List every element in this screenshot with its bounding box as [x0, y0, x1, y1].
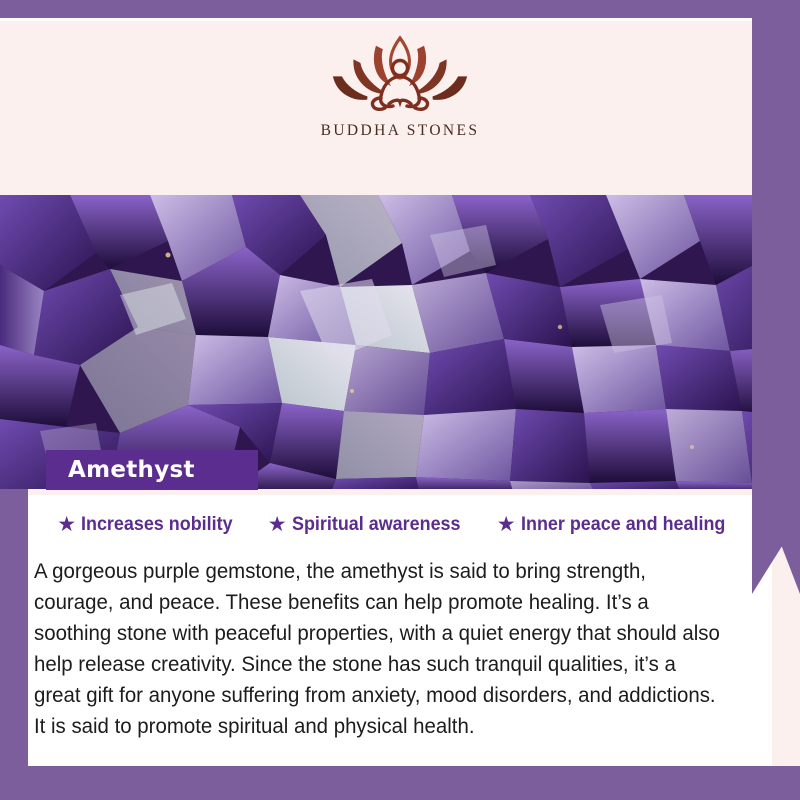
- benefit-item: ★ Increases nobility: [57, 513, 246, 536]
- star-icon: ★: [497, 514, 516, 535]
- frame-hairline: [0, 18, 752, 21]
- benefit-item: ★ Spiritual awareness: [268, 513, 475, 536]
- infographic-page: BUDDHA STONES Stone Features & Benefits …: [0, 0, 800, 800]
- stone-name-label: Amethyst: [46, 457, 195, 483]
- frame-ribbon-right: [752, 0, 800, 594]
- lotus-meditation-icon: [315, 28, 485, 120]
- brand-name: BUDDHA STONES: [321, 122, 480, 140]
- frame-ribbon-top: [0, 0, 800, 18]
- stone-name-banner: Amethyst: [46, 450, 258, 490]
- benefit-label: Spiritual awareness: [292, 513, 461, 536]
- brand-logo: BUDDHA STONES: [315, 28, 485, 140]
- benefit-label: Increases nobility: [81, 513, 233, 536]
- stone-description: A gorgeous purple gemstone, the amethyst…: [34, 556, 728, 742]
- benefit-item: ★ Inner peace and healing: [497, 513, 743, 536]
- star-icon: ★: [268, 514, 287, 535]
- frame-ribbon-left: [0, 489, 28, 800]
- benefit-label: Inner peace and healing: [521, 513, 725, 536]
- frame-ribbon-bottom: [0, 766, 800, 800]
- benefits-list: ★ Increases nobility ★ Spiritual awarene…: [28, 513, 772, 536]
- brand-header: BUDDHA STONES: [0, 18, 800, 195]
- star-icon: ★: [57, 514, 76, 535]
